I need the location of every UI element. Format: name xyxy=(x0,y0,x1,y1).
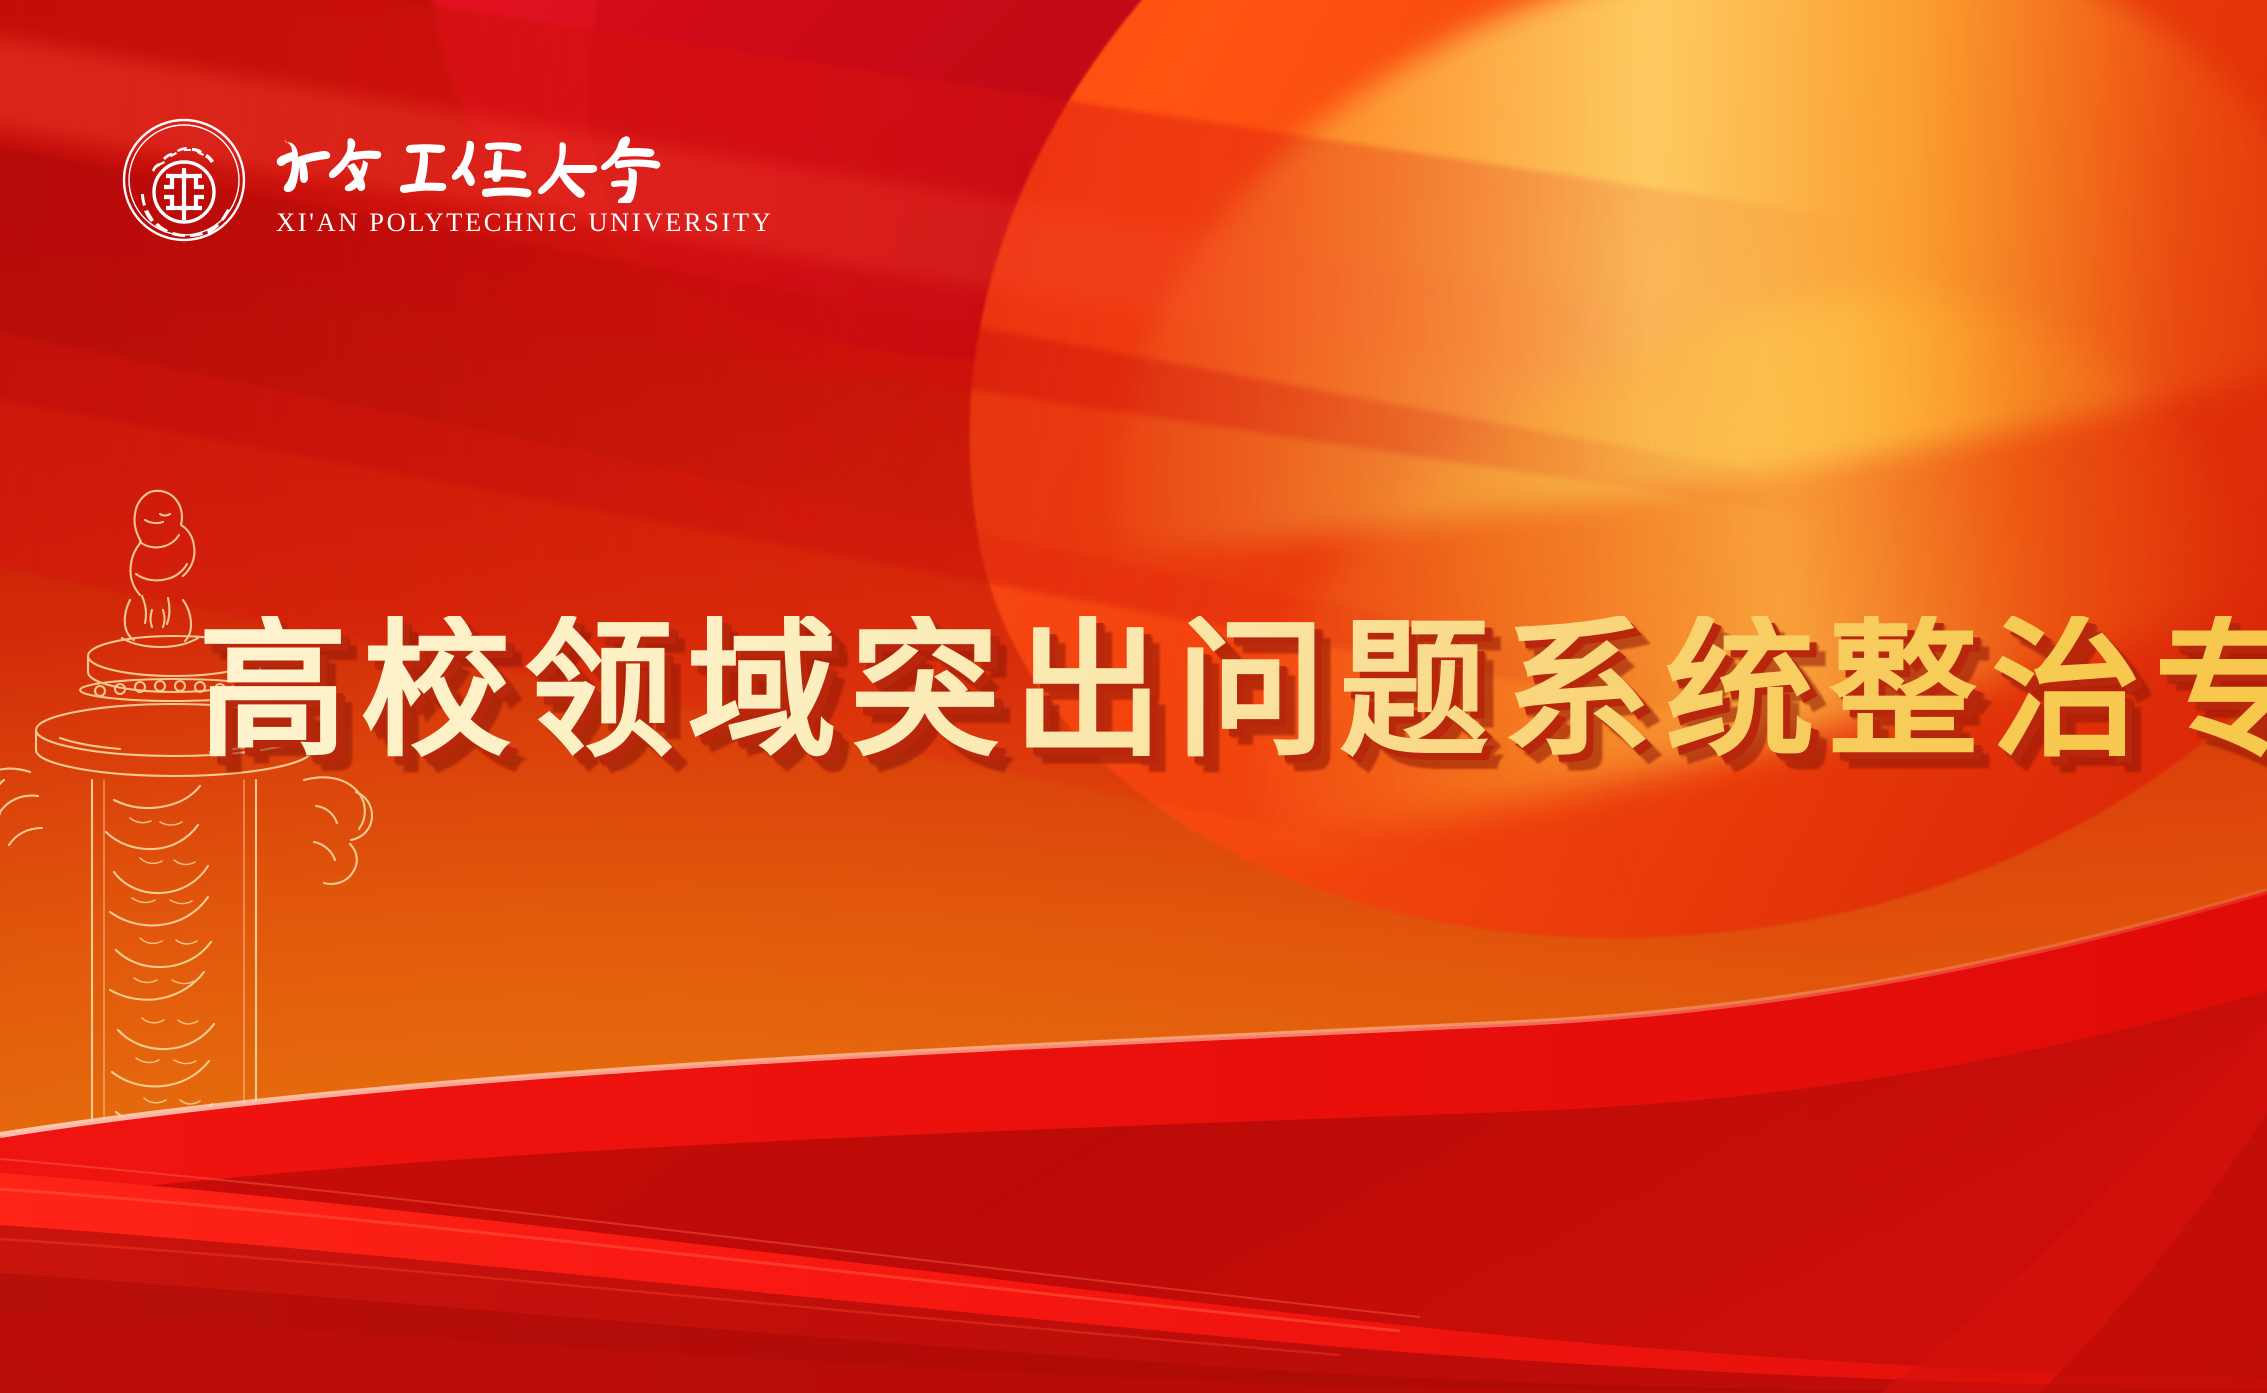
dove-3 xyxy=(1174,1054,1306,1151)
dove-2 xyxy=(860,1095,936,1155)
university-seal-icon xyxy=(122,118,246,242)
university-name-cn xyxy=(272,123,712,203)
page-title-text: 高校领域突出问题系统整治专栏 xyxy=(198,616,2267,766)
university-name-en: XI'AN POLYTECHNIC UNIVERSITY xyxy=(276,207,773,238)
dove-1 xyxy=(973,1031,1117,1158)
banner-canvas: XI'AN POLYTECHNIC UNIVERSITY 高校领域突出问题系统整… xyxy=(0,0,2267,1393)
university-wordmark: XI'AN POLYTECHNIC UNIVERSITY xyxy=(272,123,773,238)
dove-8 xyxy=(1762,1305,1840,1365)
university-logo: XI'AN POLYTECHNIC UNIVERSITY xyxy=(122,118,773,242)
page-title: 高校领域突出问题系统整治专栏 xyxy=(198,596,2128,786)
